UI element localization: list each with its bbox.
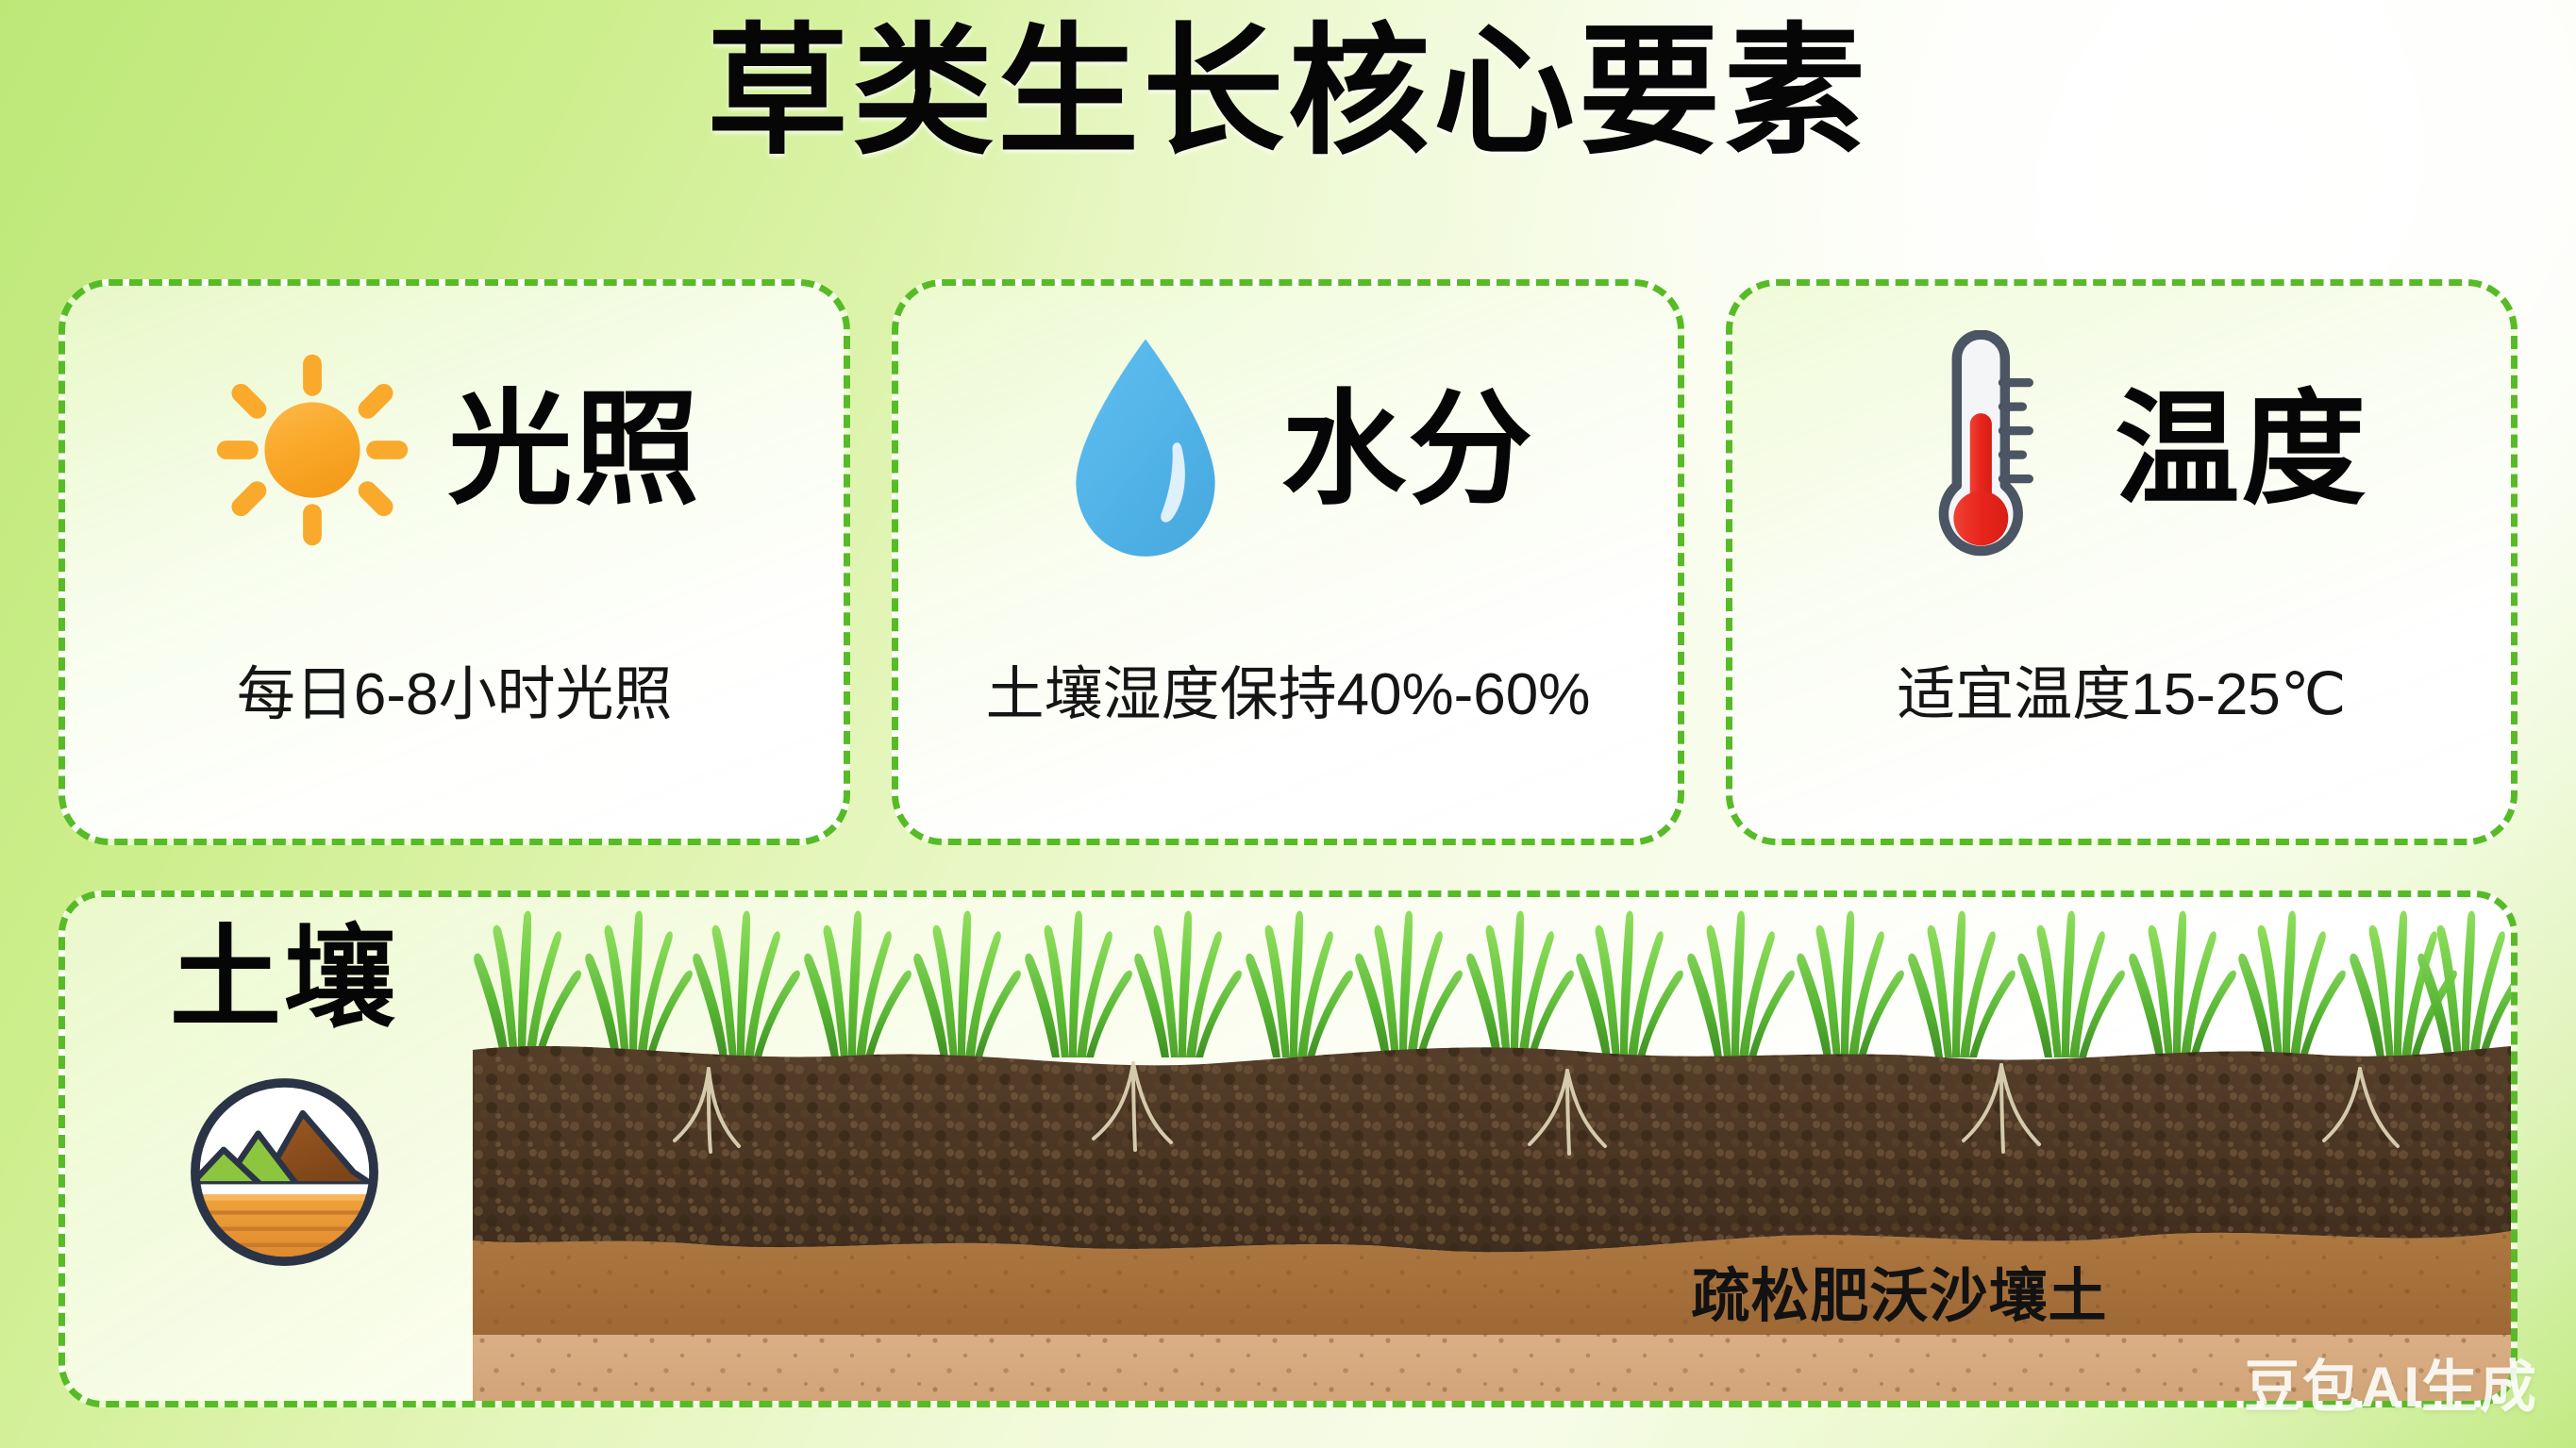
feature-card-row: 光照 每日6-8小时光照 [59, 279, 2517, 845]
soil-layers-illustration [473, 1035, 2511, 1401]
soil-panel[interactable]: 土壤 [59, 890, 2517, 1407]
water-drop-icon [1042, 332, 1249, 568]
card-temperature[interactable]: 温度 适宜温度15-25℃ [1726, 279, 2517, 845]
sun-icon [209, 332, 416, 568]
soil-layers-icon [183, 1071, 386, 1273]
page-title: 草类生长核心要素 [0, 15, 2576, 168]
card-water-title: 水分 [1281, 388, 1534, 512]
card-water[interactable]: 水分 土壤湿度保持40%-60% [892, 279, 1683, 845]
card-water-description: 土壤湿度保持40%-60% [986, 646, 1591, 731]
card-temperature-title: 温度 [2115, 388, 2367, 512]
card-temperature-description: 适宜温度15-25℃ [1897, 646, 2346, 731]
watermark: 豆包AI生成 [2244, 1341, 2538, 1423]
infographic-poster: 草类生长核心要素 [0, 0, 2576, 1448]
card-light[interactable]: 光照 每日6-8小时光照 [59, 279, 850, 845]
card-light-description: 每日6-8小时光照 [237, 646, 673, 731]
soil-label-group: 土壤 [99, 924, 469, 1273]
soil-panel-title: 土壤 [170, 924, 398, 1035]
grass-blades [473, 897, 2511, 1057]
thermometer-icon [1875, 332, 2083, 568]
card-light-header: 光照 [65, 308, 844, 591]
card-temperature-header: 温度 [1732, 308, 2511, 591]
card-light-title: 光照 [448, 388, 701, 512]
card-water-header: 水分 [898, 308, 1677, 591]
soil-cross-section: 疏松肥沃沙壤土 [473, 897, 2511, 1401]
soil-caption: 疏松肥沃沙壤土 [880, 1248, 2511, 1333]
